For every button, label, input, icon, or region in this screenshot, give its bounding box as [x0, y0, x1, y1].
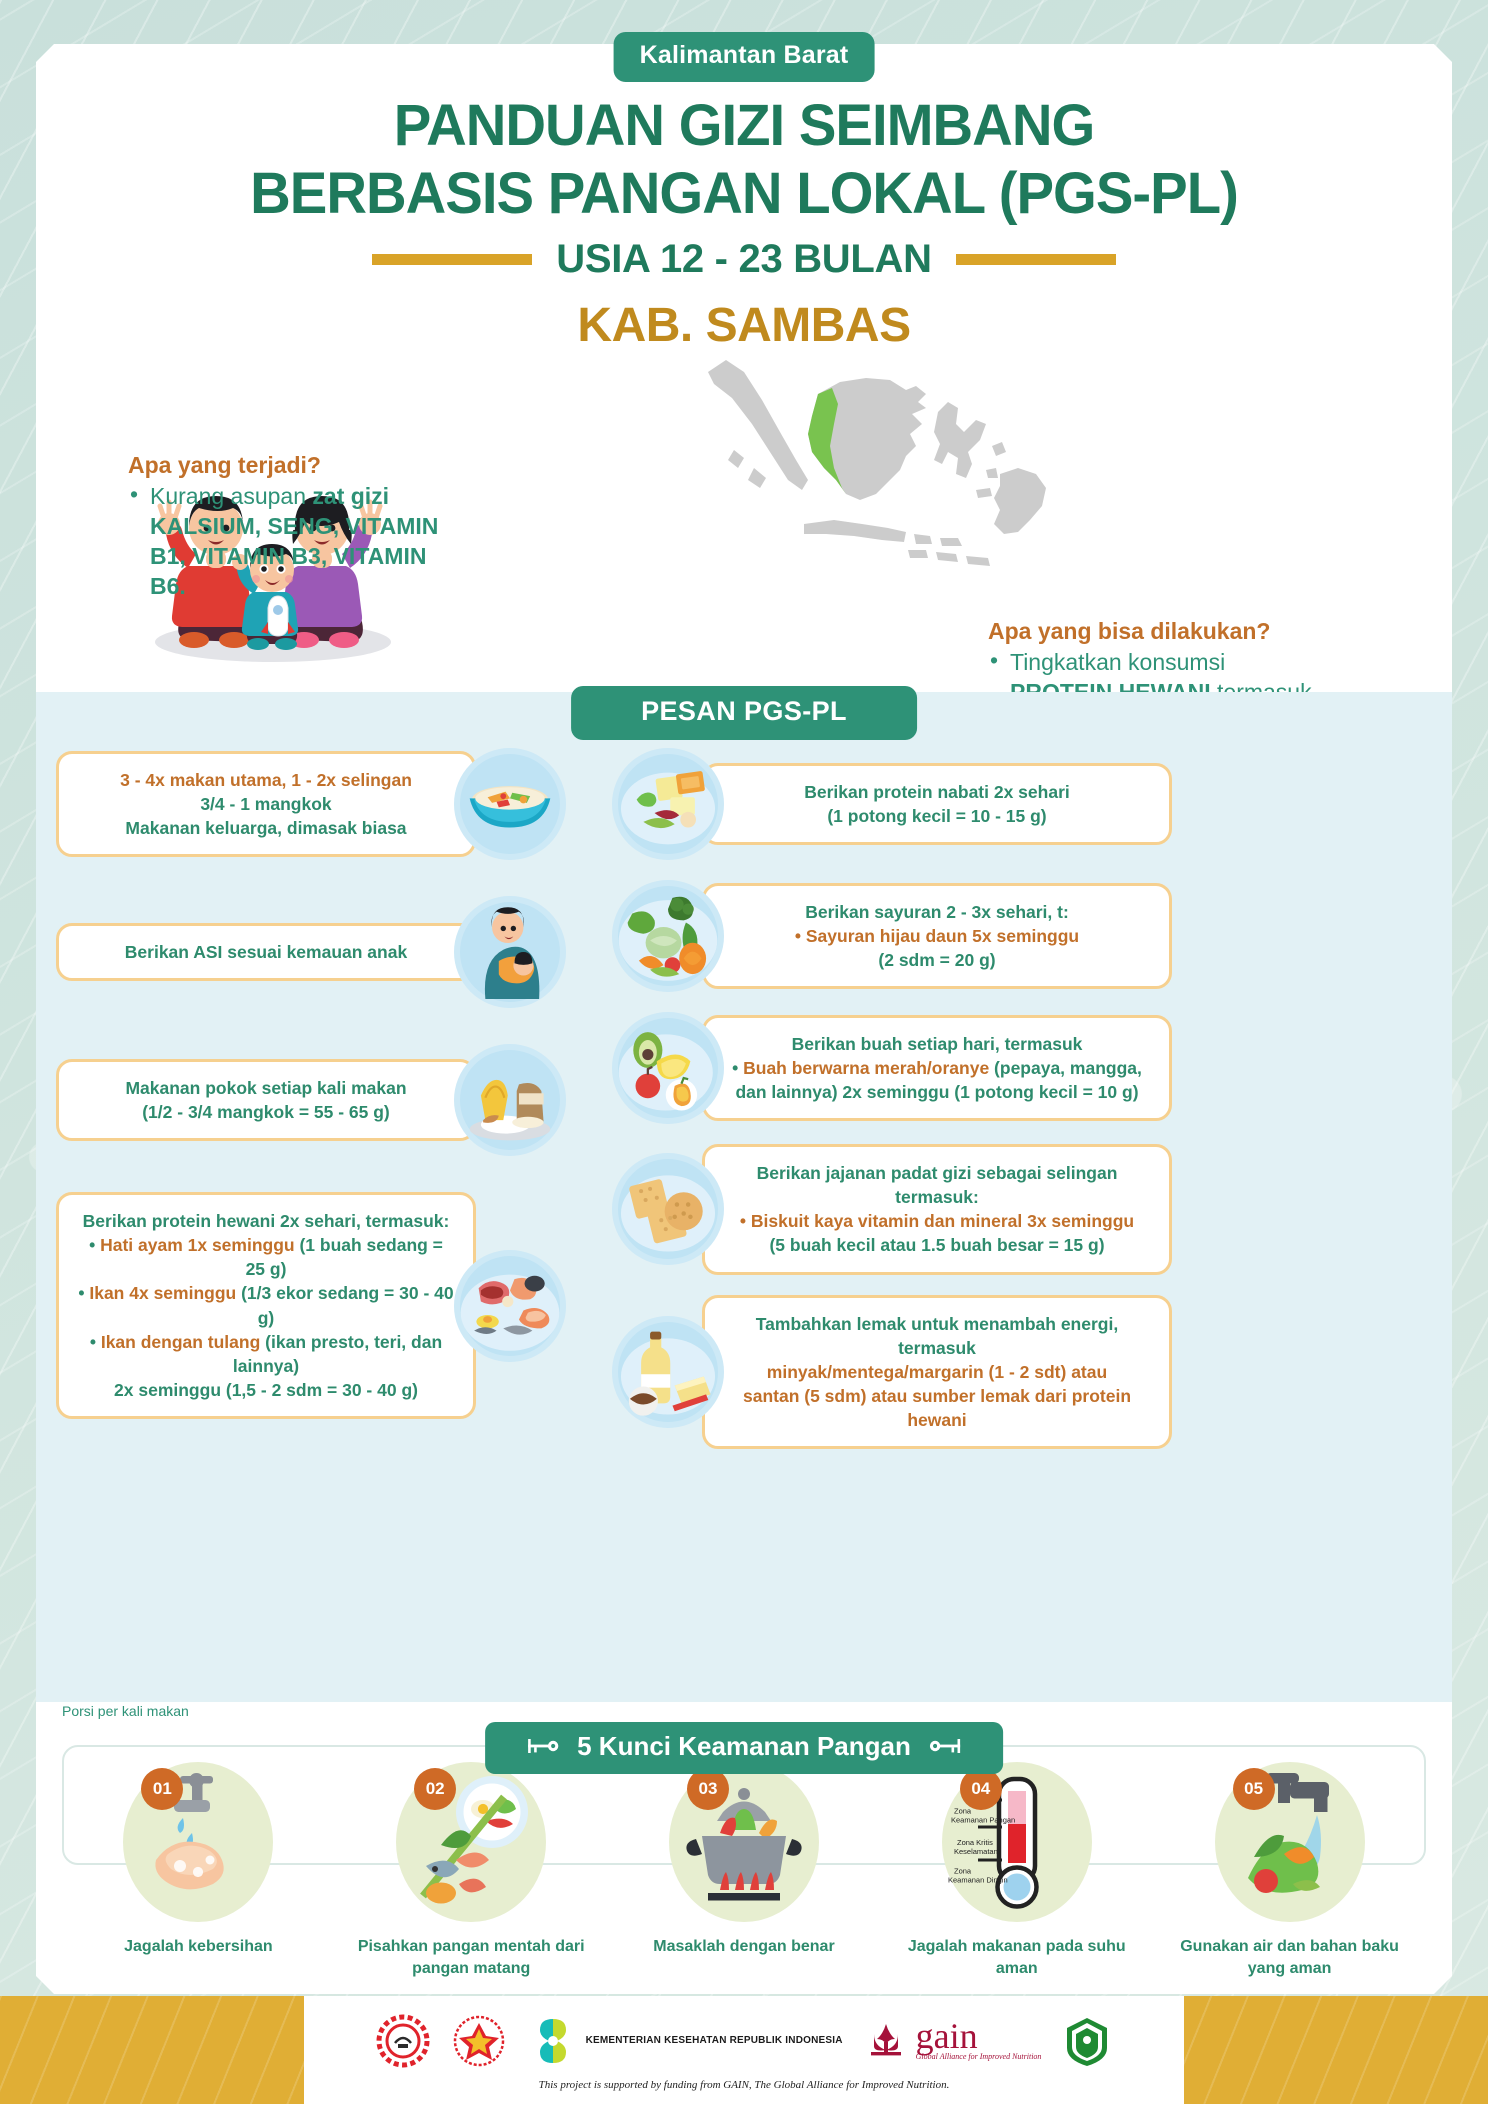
kunci-item: 01Jagalah kebersihan: [73, 1762, 323, 1958]
kunci-item: 04ZonaKeamanan PanganZona KritisKeselama…: [892, 1762, 1142, 1979]
pesan-pill: PESAN PGS-PL: [571, 686, 917, 740]
gain-logo: gain Global Alliance for Improved Nutrit…: [863, 2018, 1042, 2064]
cooking-pot-icon: 03: [669, 1762, 819, 1922]
pesan-card-line: • Ikan dengan tulang (ikan presto, teri,…: [77, 1330, 455, 1378]
bowl-of-soup-icon: [454, 748, 566, 860]
pesan-card: Berikan protein hewani 2x sehari, termas…: [56, 1192, 616, 1419]
pesan-card-line: Berikan sayuran 2 - 3x sehari, t:: [795, 900, 1079, 924]
title-line-1: PANDUAN GIZI SEIMBANG: [22, 96, 1465, 156]
handwashing-icon: 01: [123, 1762, 273, 1922]
plant-protein-icon: [612, 748, 724, 860]
kunci-number: 02: [414, 1768, 456, 1810]
kunci-item: 02Pisahkan pangan mentah dari pangan mat…: [346, 1762, 596, 1979]
pesan-card-text: Berikan protein hewani 2x sehari, termas…: [56, 1192, 476, 1419]
what-to-do-heading: Apa yang bisa dilakukan?: [988, 618, 1318, 645]
kunci-item: 03Masaklah dengan benar: [619, 1762, 869, 1958]
pesan-card-line: Berikan protein nabati 2x sehari: [804, 780, 1070, 804]
pesan-card: Berikan sayuran 2 - 3x sehari, t:• Sayur…: [612, 880, 1442, 992]
kunci-label: Gunakan air dan bahan baku yang aman: [1165, 1936, 1415, 1979]
pesan-card-line: minyak/mentega/margarin (1 - 2 sdt) atau: [723, 1360, 1151, 1384]
pesan-card-line: • Ikan 4x seminggu (1/3 ekor sedang = 30…: [77, 1281, 455, 1329]
kunci-label: Jagalah makanan pada suhu aman: [892, 1936, 1142, 1979]
pesan-card-line: Berikan buah setiap hari, termasuk: [732, 1032, 1142, 1056]
pesan-card-line: (1 potong kecil = 10 - 15 g): [804, 804, 1070, 828]
svg-text:Zona: Zona: [954, 1807, 972, 1816]
pesan-card-line: Berikan jajanan padat gizi sebagai selin…: [723, 1161, 1151, 1209]
kunci-label: Pisahkan pangan mentah dari pangan matan…: [346, 1936, 596, 1979]
pesan-card-text: Berikan ASI sesuai kemauan anak: [56, 923, 476, 981]
pesan-card-line: (1/2 - 3/4 mangkok = 55 - 65 g): [125, 1100, 406, 1124]
pesan-card-line: Makanan pokok setiap kali makan: [125, 1076, 406, 1100]
rule-left: [372, 254, 532, 265]
oil-and-fats-icon: [612, 1316, 724, 1428]
pesan-card-line: • Sayuran hijau daun 5x seminggu: [795, 924, 1079, 948]
title-block: PANDUAN GIZI SEIMBANG BERBASIS PANGAN LO…: [0, 96, 1488, 353]
key-icon-left: [525, 1731, 559, 1762]
pesan-card-line: Berikan protein hewani 2x sehari, termas…: [77, 1209, 455, 1233]
apamido-logo: [375, 2013, 431, 2069]
pesan-card-line: • Biskuit kaya vitamin dan mineral 3x se…: [723, 1209, 1151, 1233]
title-line-2: BERBASIS PANGAN LOKAL (PGS-PL): [22, 164, 1465, 224]
pesan-card: Berikan jajanan padat gizi sebagai selin…: [612, 1144, 1442, 1275]
gain-logo-subtitle: Global Alliance for Improved Nutrition: [916, 2052, 1042, 2062]
kunci-number: 04: [960, 1768, 1002, 1810]
what-happens-heading: Apa yang terjadi?: [128, 452, 458, 479]
separate-raw-cooked-icon: 02: [396, 1762, 546, 1922]
pesan-card-line: Berikan ASI sesuai kemauan anak: [125, 940, 407, 964]
svg-text:Zona Kritis: Zona Kritis: [957, 1838, 993, 1847]
pesan-card: Berikan ASI sesuai kemauan anak: [56, 896, 616, 1008]
pesan-card-line: 2x seminggu (1,5 - 2 sdm = 30 - 40 g): [77, 1378, 455, 1402]
pesan-card: Berikan protein nabati 2x sehari(1 poton…: [612, 748, 1442, 860]
kunci-number: 03: [687, 1768, 729, 1810]
staple-food-icon: [454, 1044, 566, 1156]
kunci-number: 05: [1233, 1768, 1275, 1810]
svg-text:Keamanan Dingin: Keamanan Dingin: [948, 1876, 1008, 1885]
pesan-footnote: Porsi per kali makan: [62, 1703, 189, 1719]
vegetables-icon: [612, 880, 724, 992]
pesan-card-line: 3 - 4x makan utama, 1 - 2x selingan: [120, 768, 412, 792]
infographic-page: Kalimantan Barat PANDUAN GIZI SEIMBANG B…: [0, 0, 1488, 2104]
pesan-card-line: (2 sdm = 20 g): [795, 948, 1079, 972]
logo-strip: KEMENTERIAN KESEHATAN REPUBLIK INDONESIA…: [375, 2010, 1114, 2072]
footer-note: This project is supported by funding fro…: [539, 2079, 950, 2091]
pesan-card: Tambahkan lemak untuk menambah energi, t…: [612, 1295, 1442, 1450]
thermometer-icon: 04ZonaKeamanan PanganZona KritisKeselama…: [942, 1762, 1092, 1922]
pesan-card-line: santan (5 sdm) atau sumber lemak dari pr…: [723, 1384, 1151, 1432]
gain-logo-word: gain: [916, 2020, 1042, 2052]
pesan-card-text: Makanan pokok setiap kali makan(1/2 - 3/…: [56, 1059, 476, 1141]
rule-right: [956, 254, 1116, 265]
kemenkes-logo-text: KEMENTERIAN KESEHATAN REPUBLIK INDONESIA: [586, 2035, 843, 2047]
pesan-card-line: • Buah berwarna merah/oranye (pepaya, ma…: [732, 1056, 1142, 1080]
pesan-card-text: Berikan protein nabati 2x sehari(1 poton…: [702, 763, 1172, 845]
pesan-card-line: Makanan keluarga, dimasak biasa: [120, 816, 412, 840]
fruits-icon: [612, 1012, 724, 1124]
pesan-card-text: Berikan sayuran 2 - 3x sehari, t:• Sayur…: [702, 883, 1172, 989]
indonesia-map: [700, 328, 1050, 658]
universitas-logo: [1061, 2015, 1113, 2067]
breastfeeding-mother-icon: [454, 896, 566, 1008]
animal-protein-icon: [454, 1250, 566, 1362]
svg-text:Zona: Zona: [954, 1867, 972, 1876]
kunci-label: Jagalah kebersihan: [73, 1936, 323, 1958]
what-happens-block: Apa yang terjadi? Kurang asupan zat gizi…: [128, 452, 458, 602]
pesan-card-text: Berikan jajanan padat gizi sebagai selin…: [702, 1144, 1172, 1275]
pesan-card-line: dan lainnya) 2x seminggu (1 potong kecil…: [732, 1080, 1142, 1104]
pesan-card-line: Tambahkan lemak untuk menambah energi, t…: [723, 1312, 1151, 1360]
svg-text:Keselamatan: Keselamatan: [954, 1847, 998, 1856]
kunci-row: 01Jagalah kebersihan02Pisahkan pangan me…: [62, 1762, 1426, 1979]
pesan-card-line: (5 buah kecil atau 1.5 buah besar = 15 g…: [723, 1233, 1151, 1257]
safe-water-icon: 05: [1215, 1762, 1365, 1922]
kunci-item: 05Gunakan air dan bahan baku yang aman: [1165, 1762, 1415, 1979]
province-badge: Kalimantan Barat: [614, 32, 875, 82]
pesan-card-line: • Hati ayam 1x seminggu (1 buah sedang =…: [77, 1233, 455, 1281]
kunci-label: Masaklah dengan benar: [619, 1936, 869, 1958]
pesan-card-text: 3 - 4x makan utama, 1 - 2x selingan3/4 -…: [56, 751, 476, 857]
kemenkes-logo: KEMENTERIAN KESEHATAN REPUBLIK INDONESIA: [527, 2015, 843, 2067]
key-icon-right: [929, 1731, 963, 1762]
pesan-card: Makanan pokok setiap kali makan(1/2 - 3/…: [56, 1044, 616, 1156]
pesan-card-text: Berikan buah setiap hari, termasuk• Buah…: [702, 1015, 1172, 1121]
footer-logos-panel: KEMENTERIAN KESEHATAN REPUBLIK INDONESIA…: [304, 1996, 1184, 2104]
pesan-card: Berikan buah setiap hari, termasuk• Buah…: [612, 1012, 1442, 1124]
pesan-card-line: 3/4 - 1 mangkok: [120, 792, 412, 816]
subtitle-row: USIA 12 - 23 BULAN: [0, 237, 1488, 282]
pesan-right-column: Berikan protein nabati 2x sehari(1 poton…: [612, 748, 1442, 1469]
age-subtitle: USIA 12 - 23 BULAN: [556, 237, 931, 282]
pesan-card-text: Tambahkan lemak untuk menambah energi, t…: [702, 1295, 1172, 1450]
kunci-pill: 5 Kunci Keamanan Pangan: [485, 1722, 1003, 1774]
what-happens-bullet: Kurang asupan zat gizi KALSIUM, SENG, VI…: [128, 482, 458, 602]
pesan-card: 3 - 4x makan utama, 1 - 2x selingan3/4 -…: [56, 748, 616, 860]
svg-text:Keamanan Pangan: Keamanan Pangan: [951, 1816, 1015, 1825]
kunci-pill-label: 5 Kunci Keamanan Pangan: [577, 1731, 911, 1762]
kmeg-recfo-logo: [451, 2013, 507, 2069]
biscuits-icon: [612, 1153, 724, 1265]
pesan-left-column: 3 - 4x makan utama, 1 - 2x selingan3/4 -…: [56, 748, 616, 1455]
